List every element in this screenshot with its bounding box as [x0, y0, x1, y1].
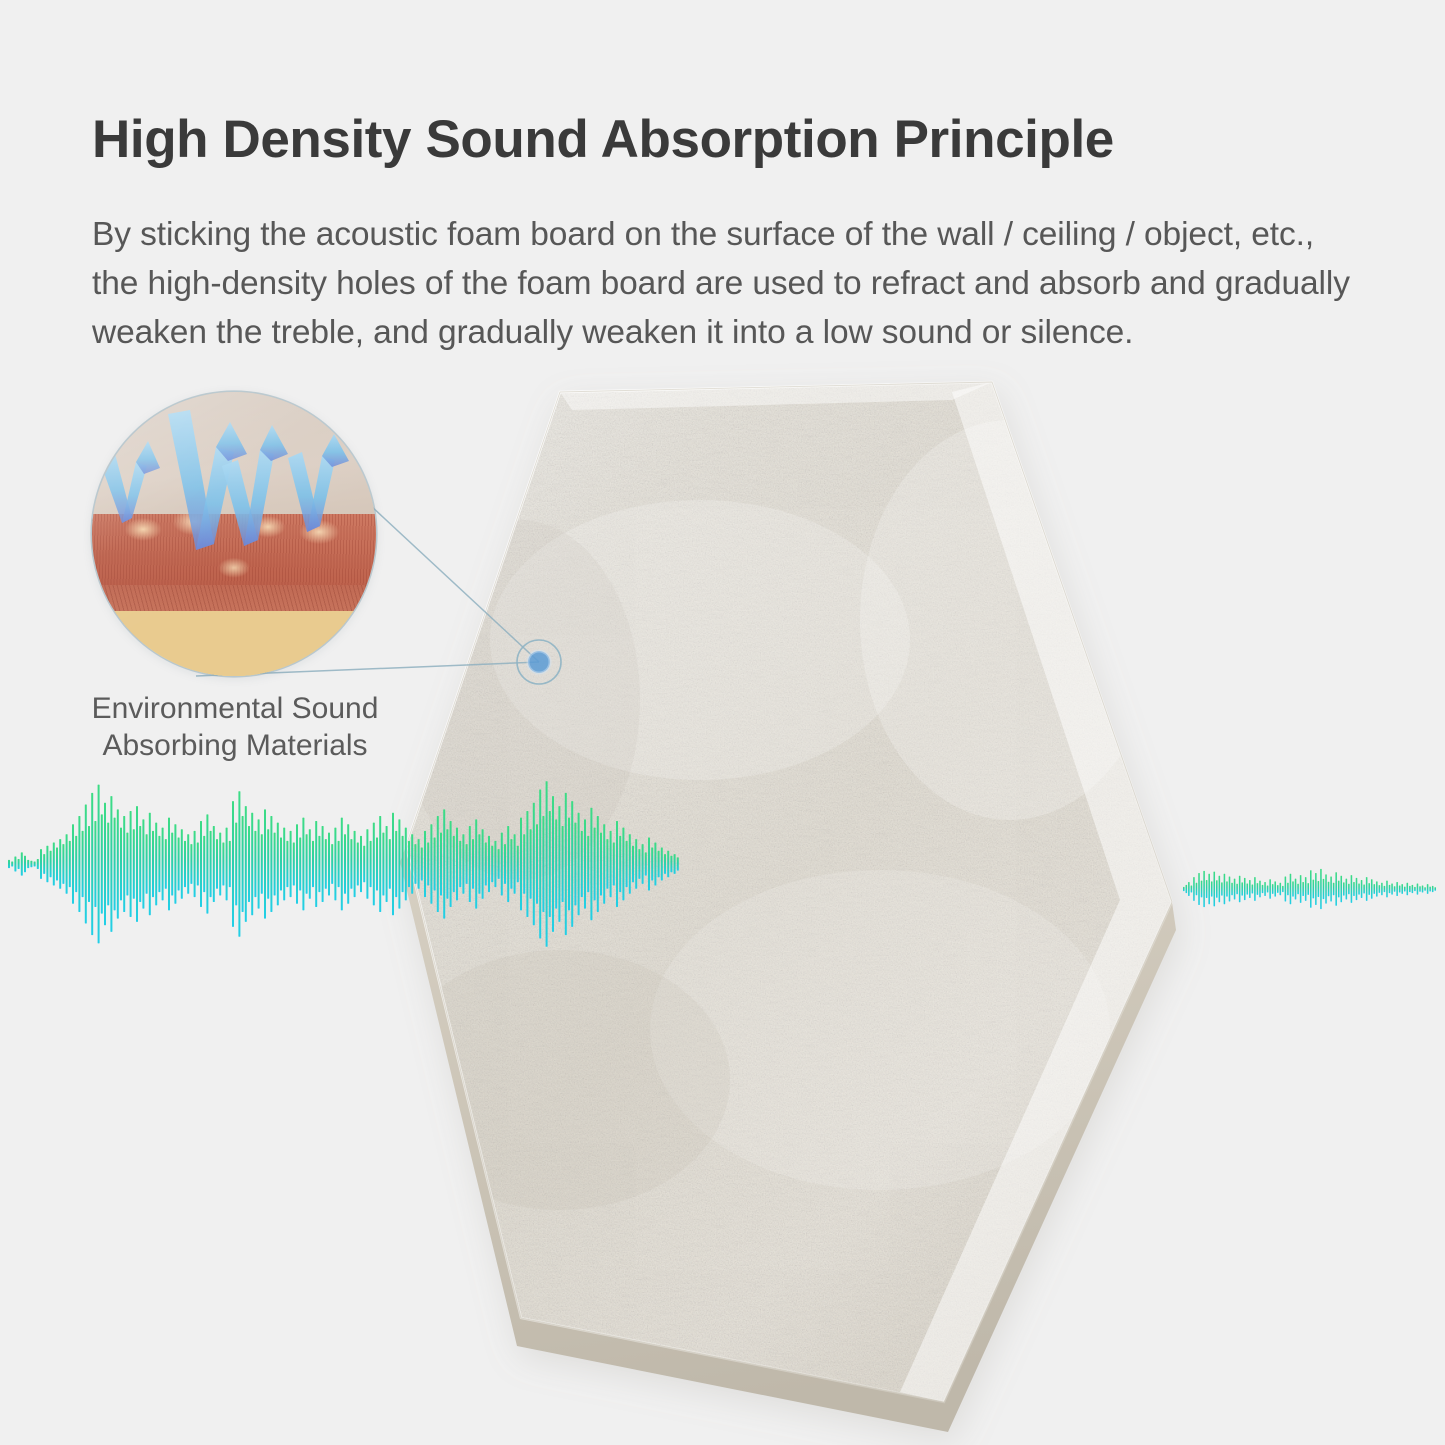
- page-title: High Density Sound Absorption Principle: [92, 110, 1372, 170]
- panel-callout-dot: [505, 628, 575, 698]
- incoming-sound-waveform: [8, 776, 680, 952]
- description-paragraph: By sticking the acoustic foam board on t…: [92, 210, 1354, 357]
- infographic-canvas: High Density Sound Absorption Principle …: [0, 0, 1445, 1445]
- magnifier-caption: Environmental Sound Absorbing Materials: [60, 690, 410, 764]
- caption-line-2: Absorbing Materials: [60, 727, 410, 764]
- sound-wave-arrows: [92, 392, 376, 676]
- caption-line-1: Environmental Sound: [60, 690, 410, 727]
- microscopic-fiber-closeup: [92, 392, 376, 676]
- attenuated-sound-waveform: [1183, 852, 1437, 926]
- bounce-arrow-1: [98, 441, 160, 523]
- bounce-arrow-4: [288, 434, 349, 532]
